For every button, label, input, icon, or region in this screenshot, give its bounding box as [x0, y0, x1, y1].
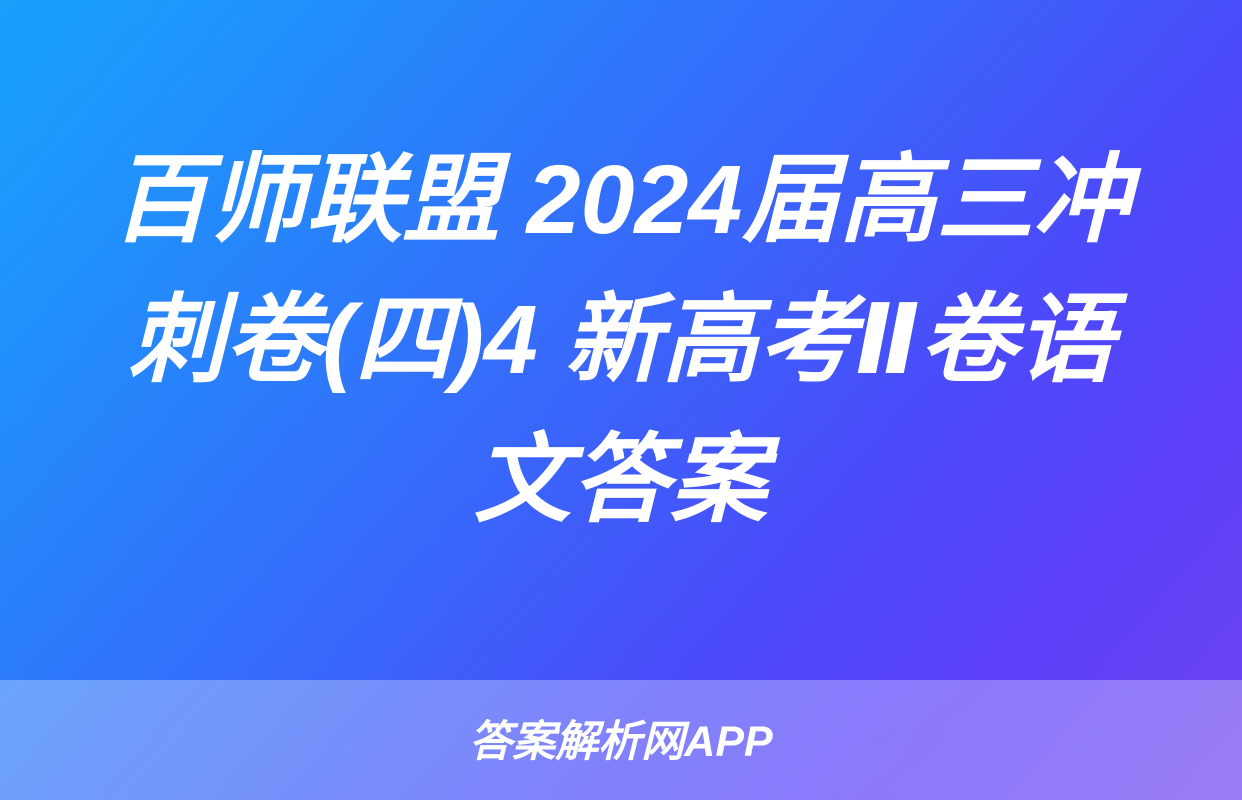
poster-title-block: 百师联盟 2024届高三冲 刺卷(四)4 新高考Ⅱ卷语 文答案	[0, 0, 1242, 680]
page-title-line-2: 刺卷(四)4 新高考Ⅱ卷语	[62, 270, 1180, 410]
page-title-line-3: 文答案	[62, 410, 1180, 550]
page-title-line-1: 百师联盟 2024届高三冲	[62, 130, 1180, 270]
footer-watermark-band: 答案解析网APP	[0, 680, 1242, 800]
app-watermark-label: 答案解析网APP	[469, 721, 772, 764]
poster-canvas: 百师联盟 2024届高三冲 刺卷(四)4 新高考Ⅱ卷语 文答案 答案解析网APP	[0, 0, 1242, 800]
